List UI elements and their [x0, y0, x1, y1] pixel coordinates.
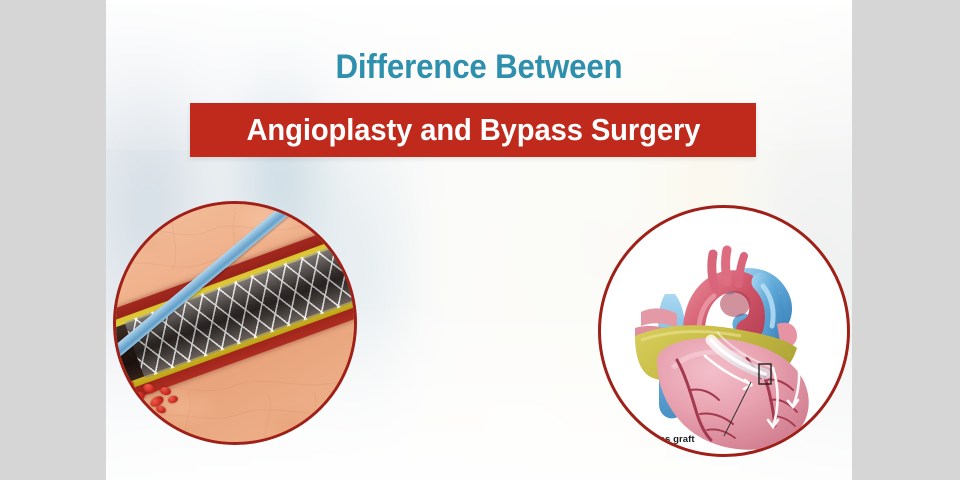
poster-canvas: bypass graft Difference Between Angiopla… — [0, 0, 960, 480]
headline-banner: Angioplasty and Bypass Surgery — [190, 103, 756, 157]
angioplasty-figure-inner — [116, 204, 354, 442]
letterbox-left — [0, 0, 106, 480]
angioplasty-figure — [113, 201, 357, 445]
headline-line-2: Angioplasty and Bypass Surgery — [246, 112, 700, 148]
heart-anatomy-drawing — [601, 208, 850, 457]
background-top-edge — [106, 0, 852, 4]
headline-line-1: Difference Between — [136, 48, 822, 87]
letterbox-right — [852, 0, 960, 480]
bypass-graft-label: bypass graft — [637, 434, 695, 445]
bypass-figure: bypass graft — [598, 205, 850, 457]
